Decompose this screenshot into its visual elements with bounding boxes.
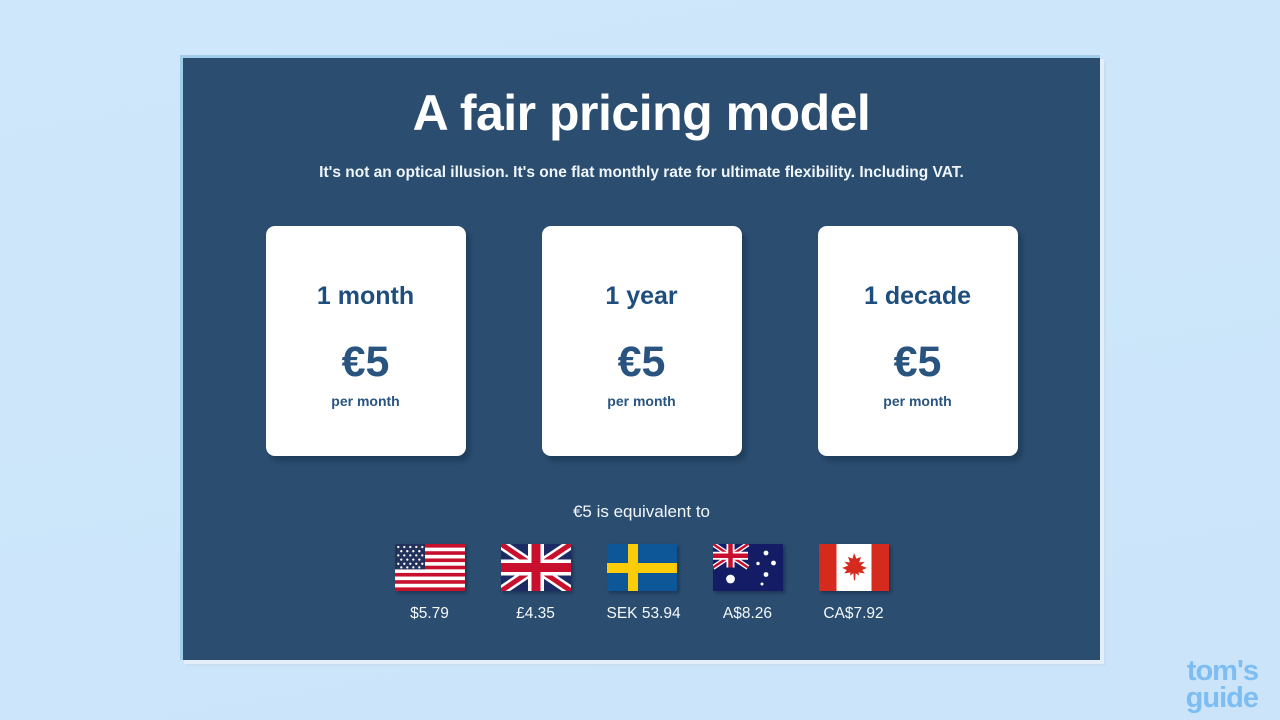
logo-line-2: guide [1186, 685, 1258, 712]
plan-period: per month [607, 393, 675, 409]
currency-amount: SEK 53.94 [607, 605, 677, 623]
uk-flag-icon [501, 544, 571, 591]
logo-line-1: tom's [1186, 658, 1258, 685]
canada-flag-icon [819, 544, 889, 591]
australia-flag-icon [713, 544, 783, 591]
pricing-card-1-month[interactable]: 1 month €5 per month [266, 226, 466, 456]
pricing-card-list: 1 month €5 per month 1 year €5 per month… [183, 226, 1100, 456]
us-flag-icon [395, 544, 465, 591]
currency-equivalence-list: $5.79 £4.35 SEK 53.94 [183, 544, 1100, 623]
plan-term: 1 year [605, 282, 677, 311]
pricing-card-1-decade[interactable]: 1 decade €5 per month [818, 226, 1018, 456]
page-subtitle: It's not an optical illusion. It's one f… [183, 164, 1100, 182]
plan-price: €5 [618, 341, 666, 384]
plan-price: €5 [342, 341, 390, 384]
page-title: A fair pricing model [183, 84, 1100, 142]
currency-item-cad: CA$7.92 [819, 544, 889, 623]
currency-item-gbp: £4.35 [501, 544, 571, 623]
sweden-flag-icon [607, 544, 677, 591]
currency-item-usd: $5.79 [395, 544, 465, 623]
currency-item-sek: SEK 53.94 [607, 544, 677, 623]
toms-guide-logo: tom's guide [1186, 658, 1258, 712]
plan-term: 1 decade [864, 282, 971, 311]
pricing-panel: A fair pricing model It's not an optical… [180, 55, 1100, 660]
plan-period: per month [331, 393, 399, 409]
plan-period: per month [883, 393, 951, 409]
equivalence-label: €5 is equivalent to [183, 502, 1100, 522]
currency-amount: A$8.26 [713, 605, 783, 623]
currency-amount: $5.79 [395, 605, 465, 623]
plan-price: €5 [894, 341, 942, 384]
plan-term: 1 month [317, 282, 414, 311]
currency-amount: £4.35 [501, 605, 571, 623]
currency-amount: CA$7.92 [819, 605, 889, 623]
pricing-card-1-year[interactable]: 1 year €5 per month [542, 226, 742, 456]
currency-item-aud: A$8.26 [713, 544, 783, 623]
